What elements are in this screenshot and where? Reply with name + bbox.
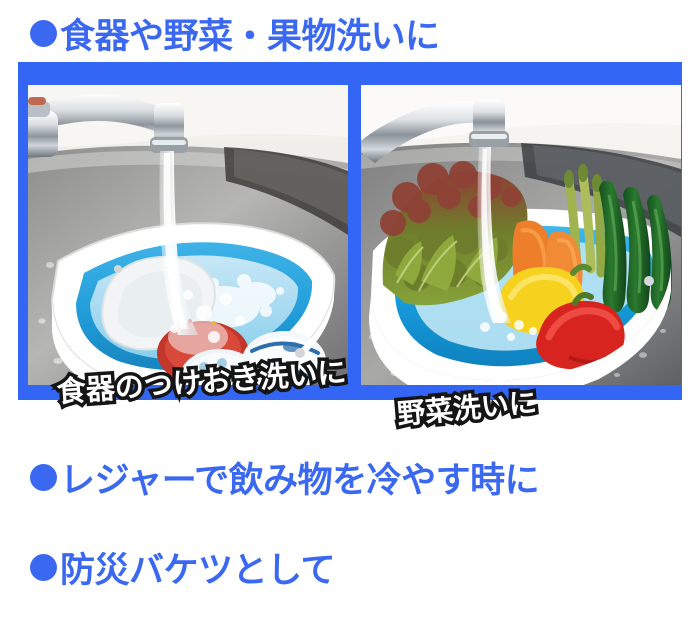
heading-leisure-cooling-drinks: レジャーで飲み物を冷やす時に — [30, 452, 539, 503]
caption-line: 食器の — [56, 371, 145, 409]
heading-text: 防災バケツとして — [60, 542, 335, 593]
heading-text: 食器や野菜・果物洗いに — [60, 8, 440, 59]
dish-soaking-illustration — [28, 85, 348, 385]
caption-line: 野菜洗いに — [396, 387, 538, 430]
heading-text: レジャーで飲み物を冷やす時に — [60, 452, 539, 503]
heading-dish-and-produce-washing: 食器や野菜・果物洗いに — [30, 8, 440, 59]
vegetable-washing-photo — [361, 85, 681, 385]
caption-fill-layer: 野菜洗いに — [396, 388, 538, 429]
filled-circle-bullet-icon — [30, 464, 57, 491]
heading-disaster-prevention-bucket: 防災バケツとして — [30, 542, 335, 593]
filled-circle-bullet-icon — [30, 20, 57, 47]
photo-panel: 食器のつけおき洗いに 食器のつけおき洗いに — [18, 62, 682, 400]
dish-soaking-photo — [28, 85, 348, 385]
filled-circle-bullet-icon — [30, 554, 57, 581]
page-root: 食器や野菜・果物洗いに — [0, 0, 700, 640]
vegetable-washing-illustration — [361, 85, 681, 385]
caption-vegetable-washing: 野菜洗いに 野菜洗いに — [396, 388, 538, 429]
